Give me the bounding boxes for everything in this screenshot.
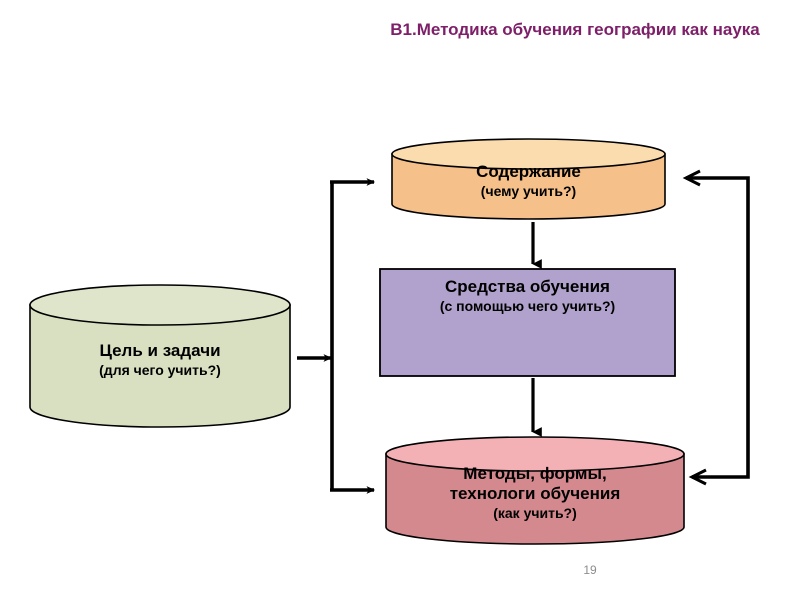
rectangle-shape-means <box>379 268 676 377</box>
page-number: 19 <box>560 563 620 577</box>
node-goals[interactable]: Цель и задачи (для чего учить?) <box>28 283 292 429</box>
slide-canvas: B1.Методика обучения географии как наука… <box>0 0 800 600</box>
node-methods[interactable]: Методы, формы, технологи обучения (как у… <box>384 436 686 547</box>
node-means[interactable]: Средства обучения (с помощью чего учить?… <box>379 268 676 377</box>
cylinder-shape-methods <box>384 436 686 547</box>
cylinder-shape-goals <box>28 283 292 429</box>
cylinder-shape-content <box>390 138 667 222</box>
page-title: B1.Методика обучения географии как наука <box>360 20 790 40</box>
connector-arrowhead-into-content <box>686 171 700 185</box>
connector-arrowhead-into-methods <box>692 470 706 484</box>
node-content[interactable]: Содержание (чему учить?) <box>390 138 667 222</box>
connector-right-trunk <box>686 178 748 477</box>
